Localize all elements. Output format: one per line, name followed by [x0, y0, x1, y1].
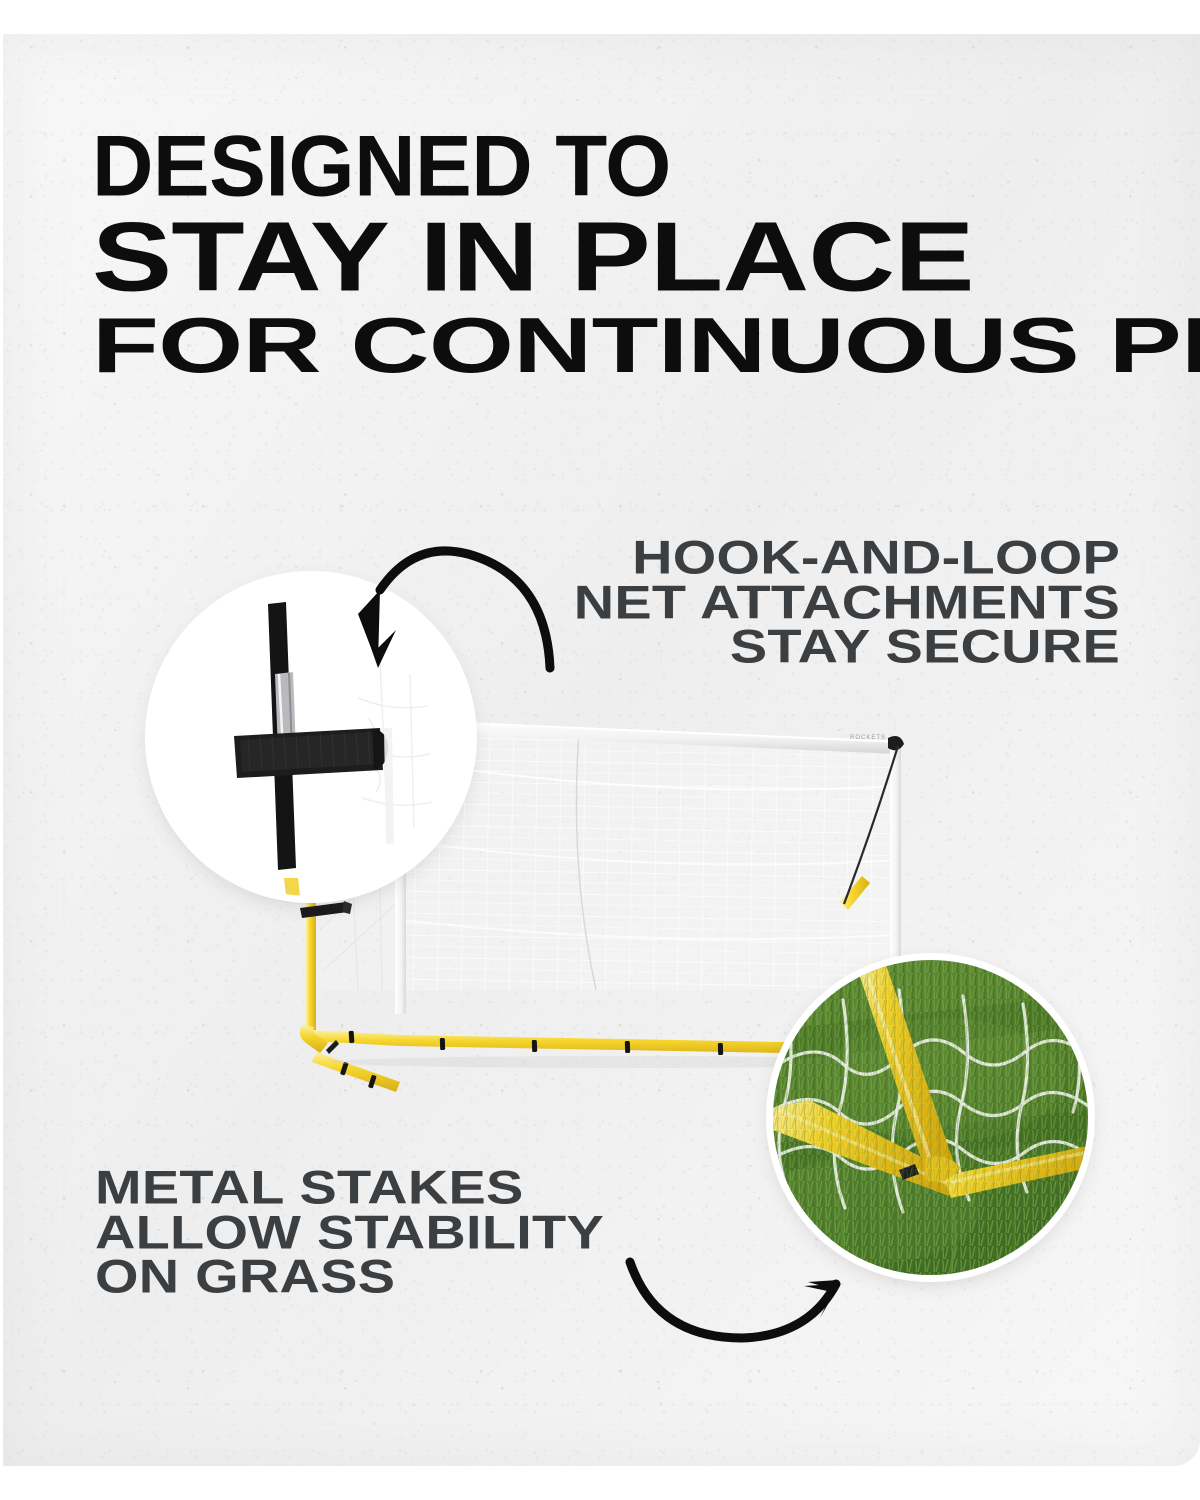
headline-line-3: FOR CONTINUOUS PLAY: [92, 310, 1200, 384]
callout-hook-and-loop-line-1: HOOK-AND-LOOP: [392, 534, 1120, 583]
callout-hook-and-loop-line-3: STAY SECURE: [392, 623, 1120, 672]
svg-text:ROCKETS: ROCKETS: [850, 735, 886, 741]
page-title: DESIGNED TO STAY IN PLACE FOR CONTINUOUS…: [92, 126, 1122, 383]
headline-line-2: STAY IN PLACE: [92, 211, 1200, 306]
callout-metal-stakes-line-1: METAL STAKES: [95, 1164, 823, 1213]
callout-metal-stakes: METAL STAKES ALLOW STABILITY ON GRASS: [95, 1164, 655, 1298]
callout-hook-and-loop: HOOK-AND-LOOP NET ATTACHMENTS STAY SECUR…: [560, 534, 1120, 668]
marketing-image-canvas: ROCKETS: [0, 0, 1200, 1500]
headline-line-1: DESIGNED TO: [92, 126, 1200, 209]
callout-metal-stakes-line-3: ON GRASS: [95, 1253, 823, 1302]
